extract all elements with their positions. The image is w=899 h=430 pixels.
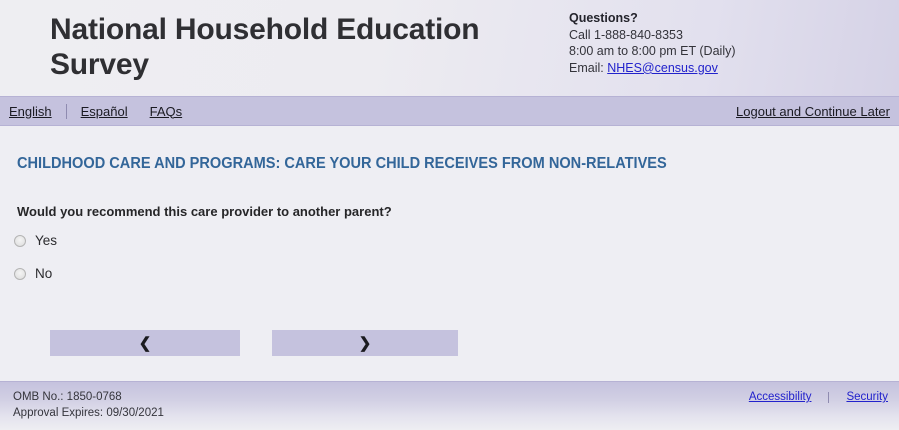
page-footer: OMB No.: 1850-0768 Approval Expires: 09/… [0,381,899,430]
omb-number: OMB No.: 1850-0768 [13,390,164,406]
accessibility-link[interactable]: Accessibility [749,391,812,403]
nav-separator [66,104,67,119]
email-prefix-label: Email: [569,61,607,75]
footer-links: Accessibility Security [749,391,888,403]
page-header: National Household Education Survey Ques… [0,0,899,96]
security-link[interactable]: Security [846,391,888,403]
radio-button-icon[interactable] [14,235,26,247]
nav-link-english[interactable]: English [9,104,52,119]
form-navigation-buttons: ❮ ❯ [0,330,899,356]
navbar-right-links: Logout and Continue Later [736,97,890,125]
main-content: CHILDHOOD CARE AND PROGRAMS: CARE YOUR C… [0,126,899,376]
page-title: CHILDHOOD CARE AND PROGRAMS: CARE YOUR C… [17,155,667,173]
contact-hours: 8:00 am to 8:00 pm ET (Daily) [569,43,736,60]
chevron-right-icon: ❯ [359,336,372,351]
utility-navbar: English Español FAQs Logout and Continue… [0,96,899,126]
chevron-left-icon: ❮ [139,336,152,351]
navbar-left-links: English Español FAQs [9,97,182,125]
site-title: National Household Education Survey [50,12,540,82]
radio-option-label: No [35,266,52,281]
back-button[interactable]: ❮ [50,330,240,356]
omb-info: OMB No.: 1850-0768 Approval Expires: 09/… [13,390,164,421]
radio-option-yes[interactable]: Yes [14,230,57,251]
question-label: Would you recommend this care provider t… [17,204,392,219]
nav-link-faqs[interactable]: FAQs [150,104,183,119]
radio-group: Yes No [14,230,57,296]
email-link[interactable]: NHES@census.gov [607,61,718,75]
radio-option-no[interactable]: No [14,263,57,284]
contact-email-line: Email: NHES@census.gov [569,60,736,77]
contact-phone: Call 1-888-840-8353 [569,27,736,44]
contact-info: Questions? Call 1-888-840-8353 8:00 am t… [569,10,736,76]
questions-label: Questions? [569,10,736,27]
footer-separator [828,392,829,403]
radio-button-icon[interactable] [14,268,26,280]
next-button[interactable]: ❯ [272,330,458,356]
omb-approval-expires: Approval Expires: 09/30/2021 [13,406,164,422]
logout-and-continue-later-link[interactable]: Logout and Continue Later [736,104,890,119]
nav-link-espanol[interactable]: Español [81,104,128,119]
radio-option-label: Yes [35,233,57,248]
